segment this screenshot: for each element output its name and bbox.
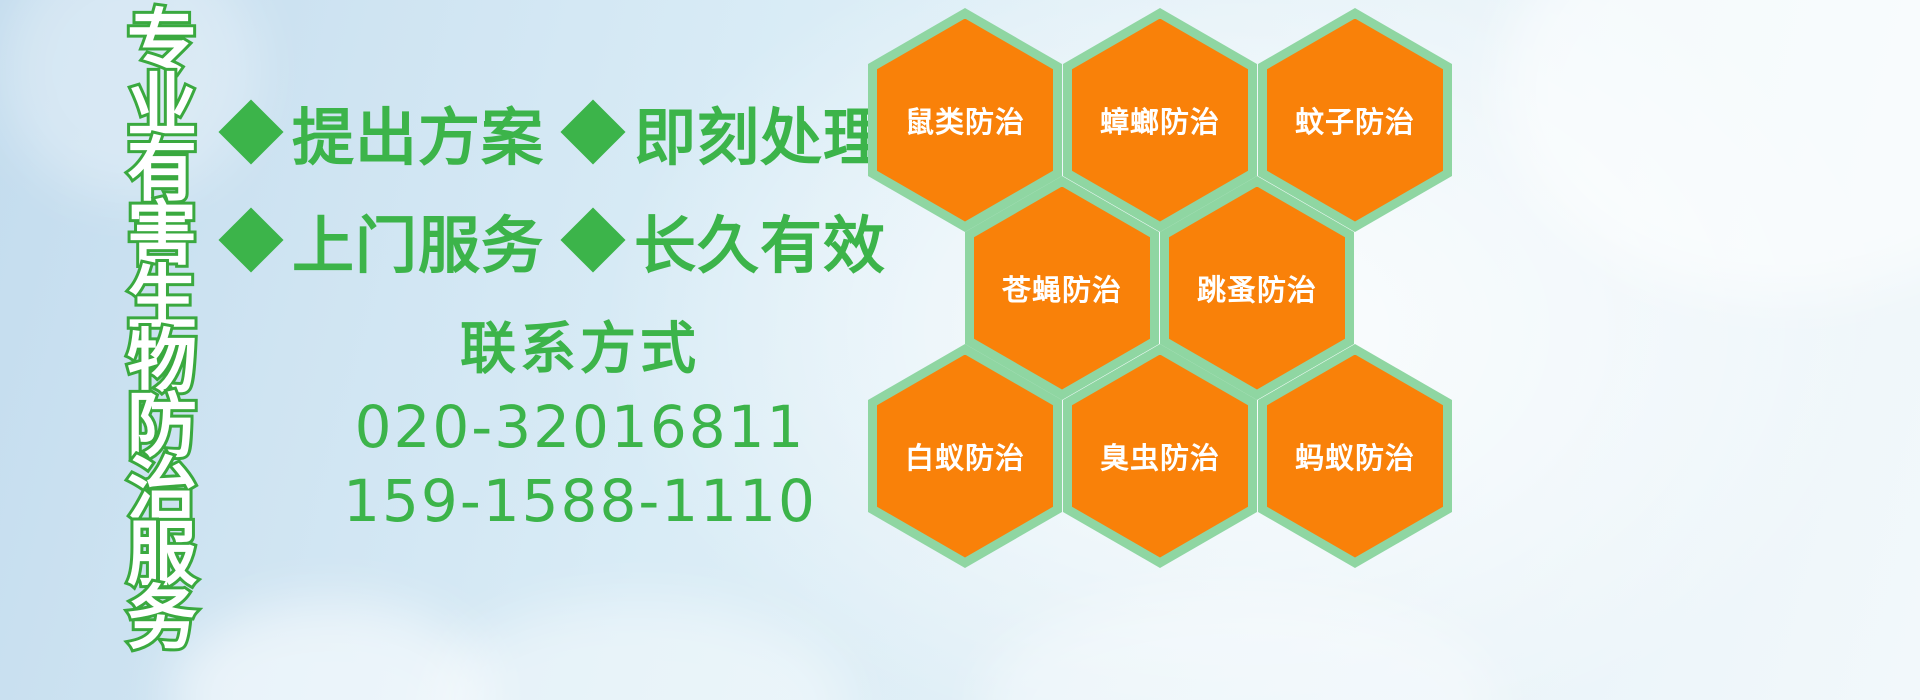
- feature-item: 即刻处理: [570, 87, 886, 177]
- feature-label: 长久有效: [634, 195, 886, 285]
- diamond-bullet-icon: [218, 207, 283, 272]
- service-hex-grid: 鼠类防治 蟑螂防治 蚊子防治 苍蝇防治 跳蚤防治 白蚁防治: [860, 0, 1460, 560]
- hex-inner: 跳蚤防治: [1169, 187, 1345, 390]
- hex-inner: 臭虫防治: [1072, 355, 1248, 558]
- feature-item: 长久有效: [570, 195, 886, 285]
- hex-label: 苍蝇防治: [1002, 267, 1122, 309]
- contact-title: 联系方式: [300, 318, 860, 380]
- background-glow-bottom-right: [980, 590, 1500, 700]
- feature-row: 提出方案 即刻处理: [228, 78, 868, 186]
- feature-label: 即刻处理: [634, 87, 886, 177]
- feature-item: 上门服务: [228, 195, 544, 285]
- diamond-bullet-icon: [218, 99, 283, 164]
- promo-banner: 专 业 有 害 生 物 防 治 服 务 提出方案 即刻处理 上门服务: [0, 0, 1920, 700]
- hex-inner: 苍蝇防治: [974, 187, 1150, 390]
- feature-row: 上门服务 长久有效: [228, 186, 868, 294]
- hex-label: 跳蚤防治: [1197, 267, 1317, 309]
- hex-label: 蚊子防治: [1295, 99, 1415, 141]
- vertical-headline-char: 业: [127, 74, 197, 138]
- diamond-bullet-icon: [560, 99, 625, 164]
- hex-inner: 蟑螂防治: [1072, 19, 1248, 222]
- vertical-headline-char: 生: [127, 266, 197, 330]
- feature-label: 上门服务: [292, 195, 544, 285]
- contact-block: 联系方式 020-32016811 159-1588-1110: [300, 318, 860, 538]
- phone-number-landline[interactable]: 020-32016811: [300, 390, 860, 464]
- background-glow-top-right: [1500, 0, 1920, 300]
- background-glow-bottom-left: [170, 600, 490, 700]
- vertical-headline-char: 有: [127, 138, 197, 202]
- vertical-headline-char: 治: [127, 458, 197, 522]
- hex-inner: 蚊子防治: [1267, 19, 1443, 222]
- hex-label: 白蚁防治: [905, 435, 1025, 477]
- vertical-headline-char: 专: [127, 10, 197, 74]
- hex-inner: 蚂蚁防治: [1267, 355, 1443, 558]
- vertical-headline-char: 害: [127, 202, 197, 266]
- vertical-headline-char: 服: [127, 522, 197, 586]
- hex-inner: 白蚁防治: [877, 355, 1053, 558]
- feature-label: 提出方案: [292, 87, 544, 177]
- hex-inner: 鼠类防治: [877, 19, 1053, 222]
- hex-label: 臭虫防治: [1100, 435, 1220, 477]
- phone-number-mobile[interactable]: 159-1588-1110: [300, 464, 860, 538]
- vertical-headline: 专 业 有 害 生 物 防 治 服 务: [108, 10, 216, 700]
- feature-item: 提出方案: [228, 87, 544, 177]
- hex-label: 鼠类防治: [905, 99, 1025, 141]
- vertical-headline-char: 务: [127, 586, 197, 650]
- hex-label: 蟑螂防治: [1100, 99, 1220, 141]
- background-glow-bottom-center: [430, 600, 850, 700]
- vertical-headline-char: 防: [127, 394, 197, 458]
- diamond-bullet-icon: [560, 207, 625, 272]
- hex-label: 蚂蚁防治: [1295, 435, 1415, 477]
- vertical-headline-char: 物: [127, 330, 197, 394]
- feature-list: 提出方案 即刻处理 上门服务 长久有效: [228, 78, 868, 294]
